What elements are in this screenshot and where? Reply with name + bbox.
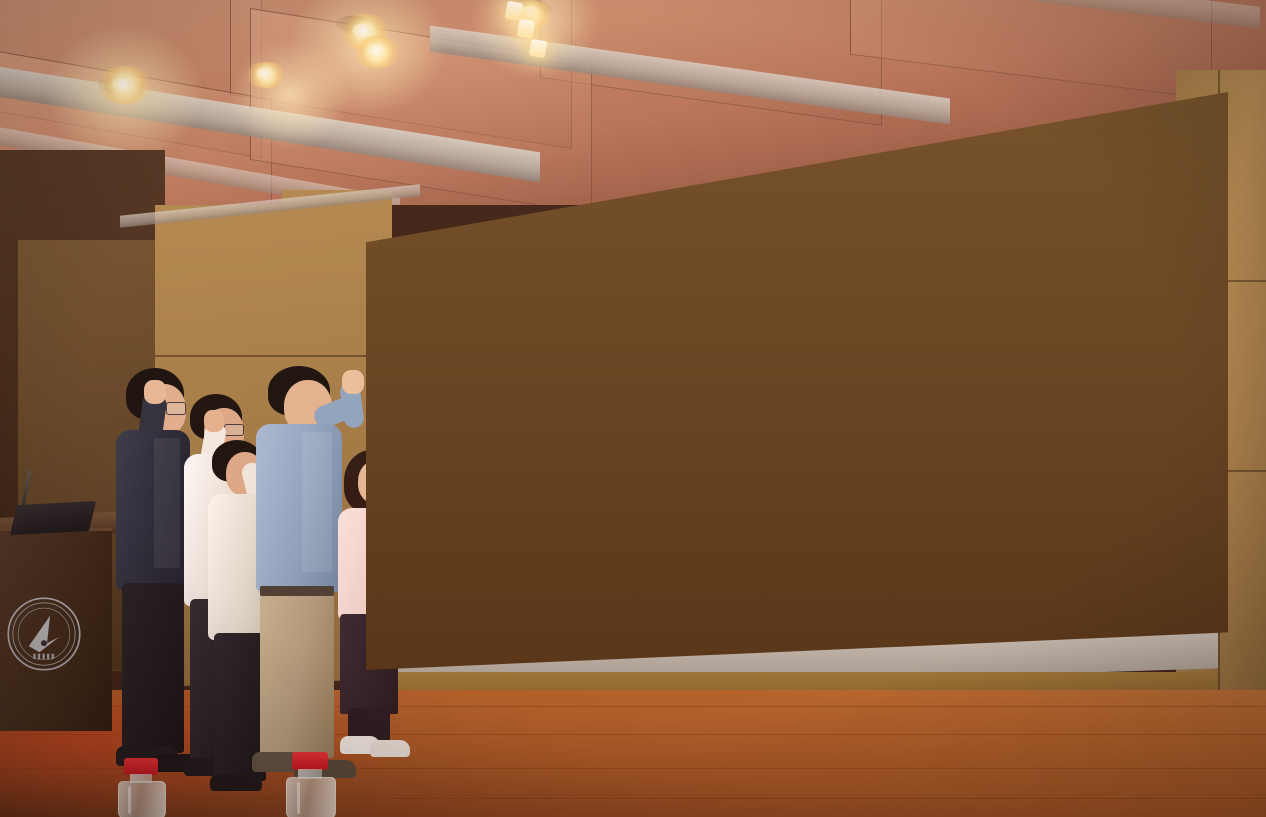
raised-fist — [204, 410, 224, 432]
university-seal-icon — [6, 596, 82, 672]
legs — [260, 586, 334, 758]
glasses-icon — [224, 424, 244, 436]
shoe — [370, 740, 410, 757]
bottle-body — [118, 781, 166, 817]
ceiling-light-bar — [517, 19, 536, 40]
auditorium-photo: 物理科学与技术学院新入职教师宣誓 我宣誓：我志愿做一名光荣的人民教师，忠诚党的教… — [0, 0, 1266, 817]
bottle-body — [286, 777, 336, 817]
raised-fist — [144, 380, 166, 404]
legs — [122, 583, 184, 753]
ceiling-light-bar — [529, 39, 548, 59]
bottle-cap — [124, 758, 158, 775]
bottle-cap — [292, 752, 328, 770]
raised-fist — [342, 370, 364, 394]
